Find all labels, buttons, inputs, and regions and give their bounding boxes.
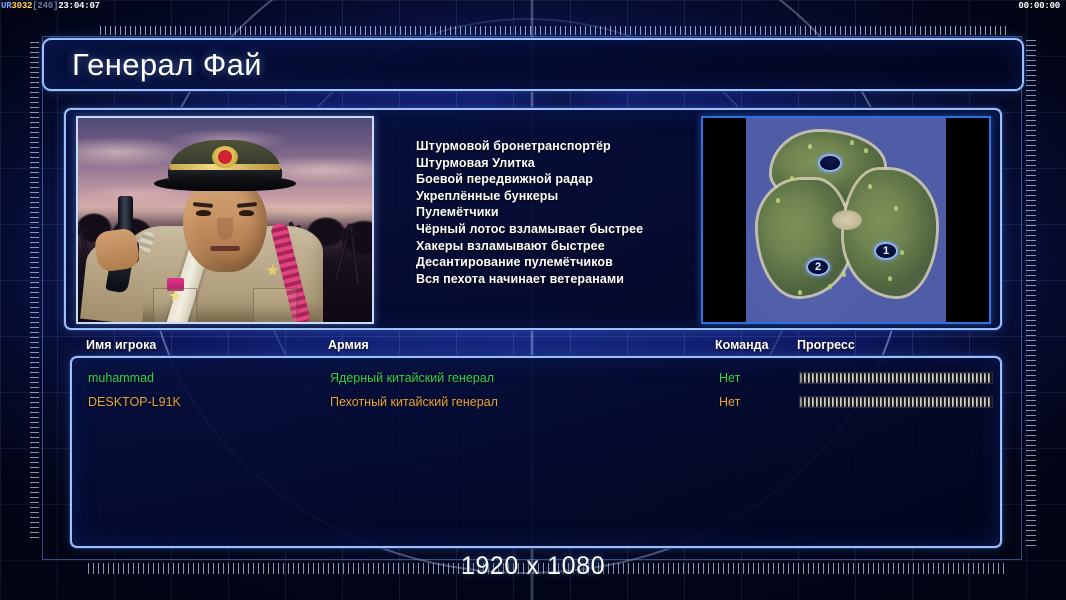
- portrait-mouth: [210, 246, 240, 251]
- general-fai-portrait: [78, 118, 372, 322]
- minimap-terrain: 1 2: [746, 118, 946, 322]
- fps-readout: UR3032[240]23:04:07: [1, 0, 100, 13]
- general-info-panel: Штурмовой бронетранспортёр Штурмовая Ули…: [64, 108, 1002, 330]
- ability-item: Штурмовой бронетранспортёр: [416, 138, 716, 155]
- fps-value-3: [240]: [32, 1, 58, 11]
- tree-icon: [842, 272, 846, 277]
- minimap-start-position[interactable]: [818, 154, 842, 172]
- portrait-pocket-left: [153, 288, 197, 322]
- tree-icon: [828, 284, 832, 289]
- players-table-header: Имя игрока Армия Команда Прогресс: [70, 338, 1002, 355]
- ability-item: Штурмовая Улитка: [416, 155, 716, 172]
- tree-icon: [868, 184, 872, 189]
- cap-emblem-icon: [212, 146, 238, 168]
- minimap-letterbox: 1 2: [703, 118, 989, 322]
- player-progress-fill: [800, 373, 992, 383]
- ability-item: Боевой передвижной радар: [416, 171, 716, 188]
- tree-icon: [850, 140, 854, 145]
- player-name: muhammad: [88, 366, 154, 390]
- portrait-brow-right: [237, 202, 257, 208]
- players-panel: muhammad Ядерный китайский генерал Нет D…: [70, 356, 1002, 548]
- player-army: Ядерный китайский генерал: [330, 366, 494, 390]
- ability-item: Хакеры взламывают быстрее: [416, 238, 716, 255]
- portrait-brow-left: [193, 202, 213, 208]
- column-header-progress: Прогресс: [797, 338, 855, 352]
- ruler-right-ticks: [1026, 40, 1036, 548]
- minimap-start-position[interactable]: 1: [874, 242, 898, 260]
- rifle-icon: [349, 226, 360, 284]
- tree-icon: [808, 144, 812, 149]
- ability-item: Чёрный лотос взламывает быстрее: [416, 221, 716, 238]
- portrait-eye-right: [239, 210, 254, 216]
- tree-icon: [900, 250, 904, 255]
- general-portrait-frame: [76, 116, 374, 324]
- player-team: Нет: [719, 366, 740, 390]
- resolution-label: 1920 x 1080: [0, 552, 1066, 581]
- player-name: DESKTOP-L91K: [88, 390, 181, 414]
- ruler-top-ticks: [100, 26, 1006, 35]
- ability-item: Вся пехота начинает ветеранами: [416, 271, 716, 288]
- player-progress-bar: [799, 396, 993, 408]
- portrait-officer-cap: [154, 140, 296, 192]
- player-army: Пехотный китайский генерал: [330, 390, 498, 414]
- debug-status-bar: UR3032[240]23:04:07 00:00:00: [0, 0, 1066, 13]
- player-progress-fill: [800, 397, 992, 407]
- portrait-hand: [93, 227, 140, 272]
- ability-item: Укреплённые бункеры: [416, 188, 716, 205]
- portrait-gold-badge: [266, 264, 279, 277]
- portrait-pocket-right: [253, 288, 297, 322]
- tree-icon: [776, 198, 780, 203]
- table-row: muhammad Ядерный китайский генерал Нет: [72, 366, 1000, 390]
- tree-icon: [790, 176, 794, 181]
- players-list: muhammad Ядерный китайский генерал Нет D…: [72, 366, 1000, 414]
- match-minimap: 1 2: [701, 116, 991, 324]
- tree-icon: [864, 148, 868, 153]
- cap-brim: [154, 176, 296, 191]
- fps-tag: UR: [1, 1, 11, 11]
- minimap-center-crossing: [832, 210, 862, 230]
- minimap-start-position[interactable]: 2: [806, 258, 830, 276]
- table-row: DESKTOP-L91K Пехотный китайский генерал …: [72, 390, 1000, 414]
- fps-value-1: 30: [11, 1, 21, 11]
- column-header-team: Команда: [715, 338, 769, 352]
- title-panel: Генерал Фай: [42, 38, 1024, 91]
- system-clock: 23:04:07: [58, 1, 100, 11]
- page-title: Генерал Фай: [72, 47, 262, 83]
- column-header-player-name: Имя игрока: [86, 338, 156, 352]
- portrait-nose: [217, 218, 233, 240]
- minimap-island-west: [758, 180, 850, 296]
- ability-item: Десантирование пулемётчиков: [416, 254, 716, 271]
- tree-icon: [888, 276, 892, 281]
- ruler-left-ticks: [30, 42, 39, 542]
- fps-value-2: 32: [22, 1, 32, 11]
- match-timer: 00:00:00: [1018, 0, 1060, 13]
- loading-screen: UR3032[240]23:04:07 00:00:00 Генерал Фай: [0, 0, 1066, 600]
- tree-icon: [894, 206, 898, 211]
- general-abilities-list: Штурмовой бронетранспортёр Штурмовая Ули…: [416, 138, 716, 287]
- portrait-eye-left: [196, 210, 211, 216]
- player-progress-bar: [799, 372, 993, 384]
- column-header-army: Армия: [328, 338, 369, 352]
- ability-item: Пулемётчики: [416, 204, 716, 221]
- tree-icon: [798, 290, 802, 295]
- player-team: Нет: [719, 390, 740, 414]
